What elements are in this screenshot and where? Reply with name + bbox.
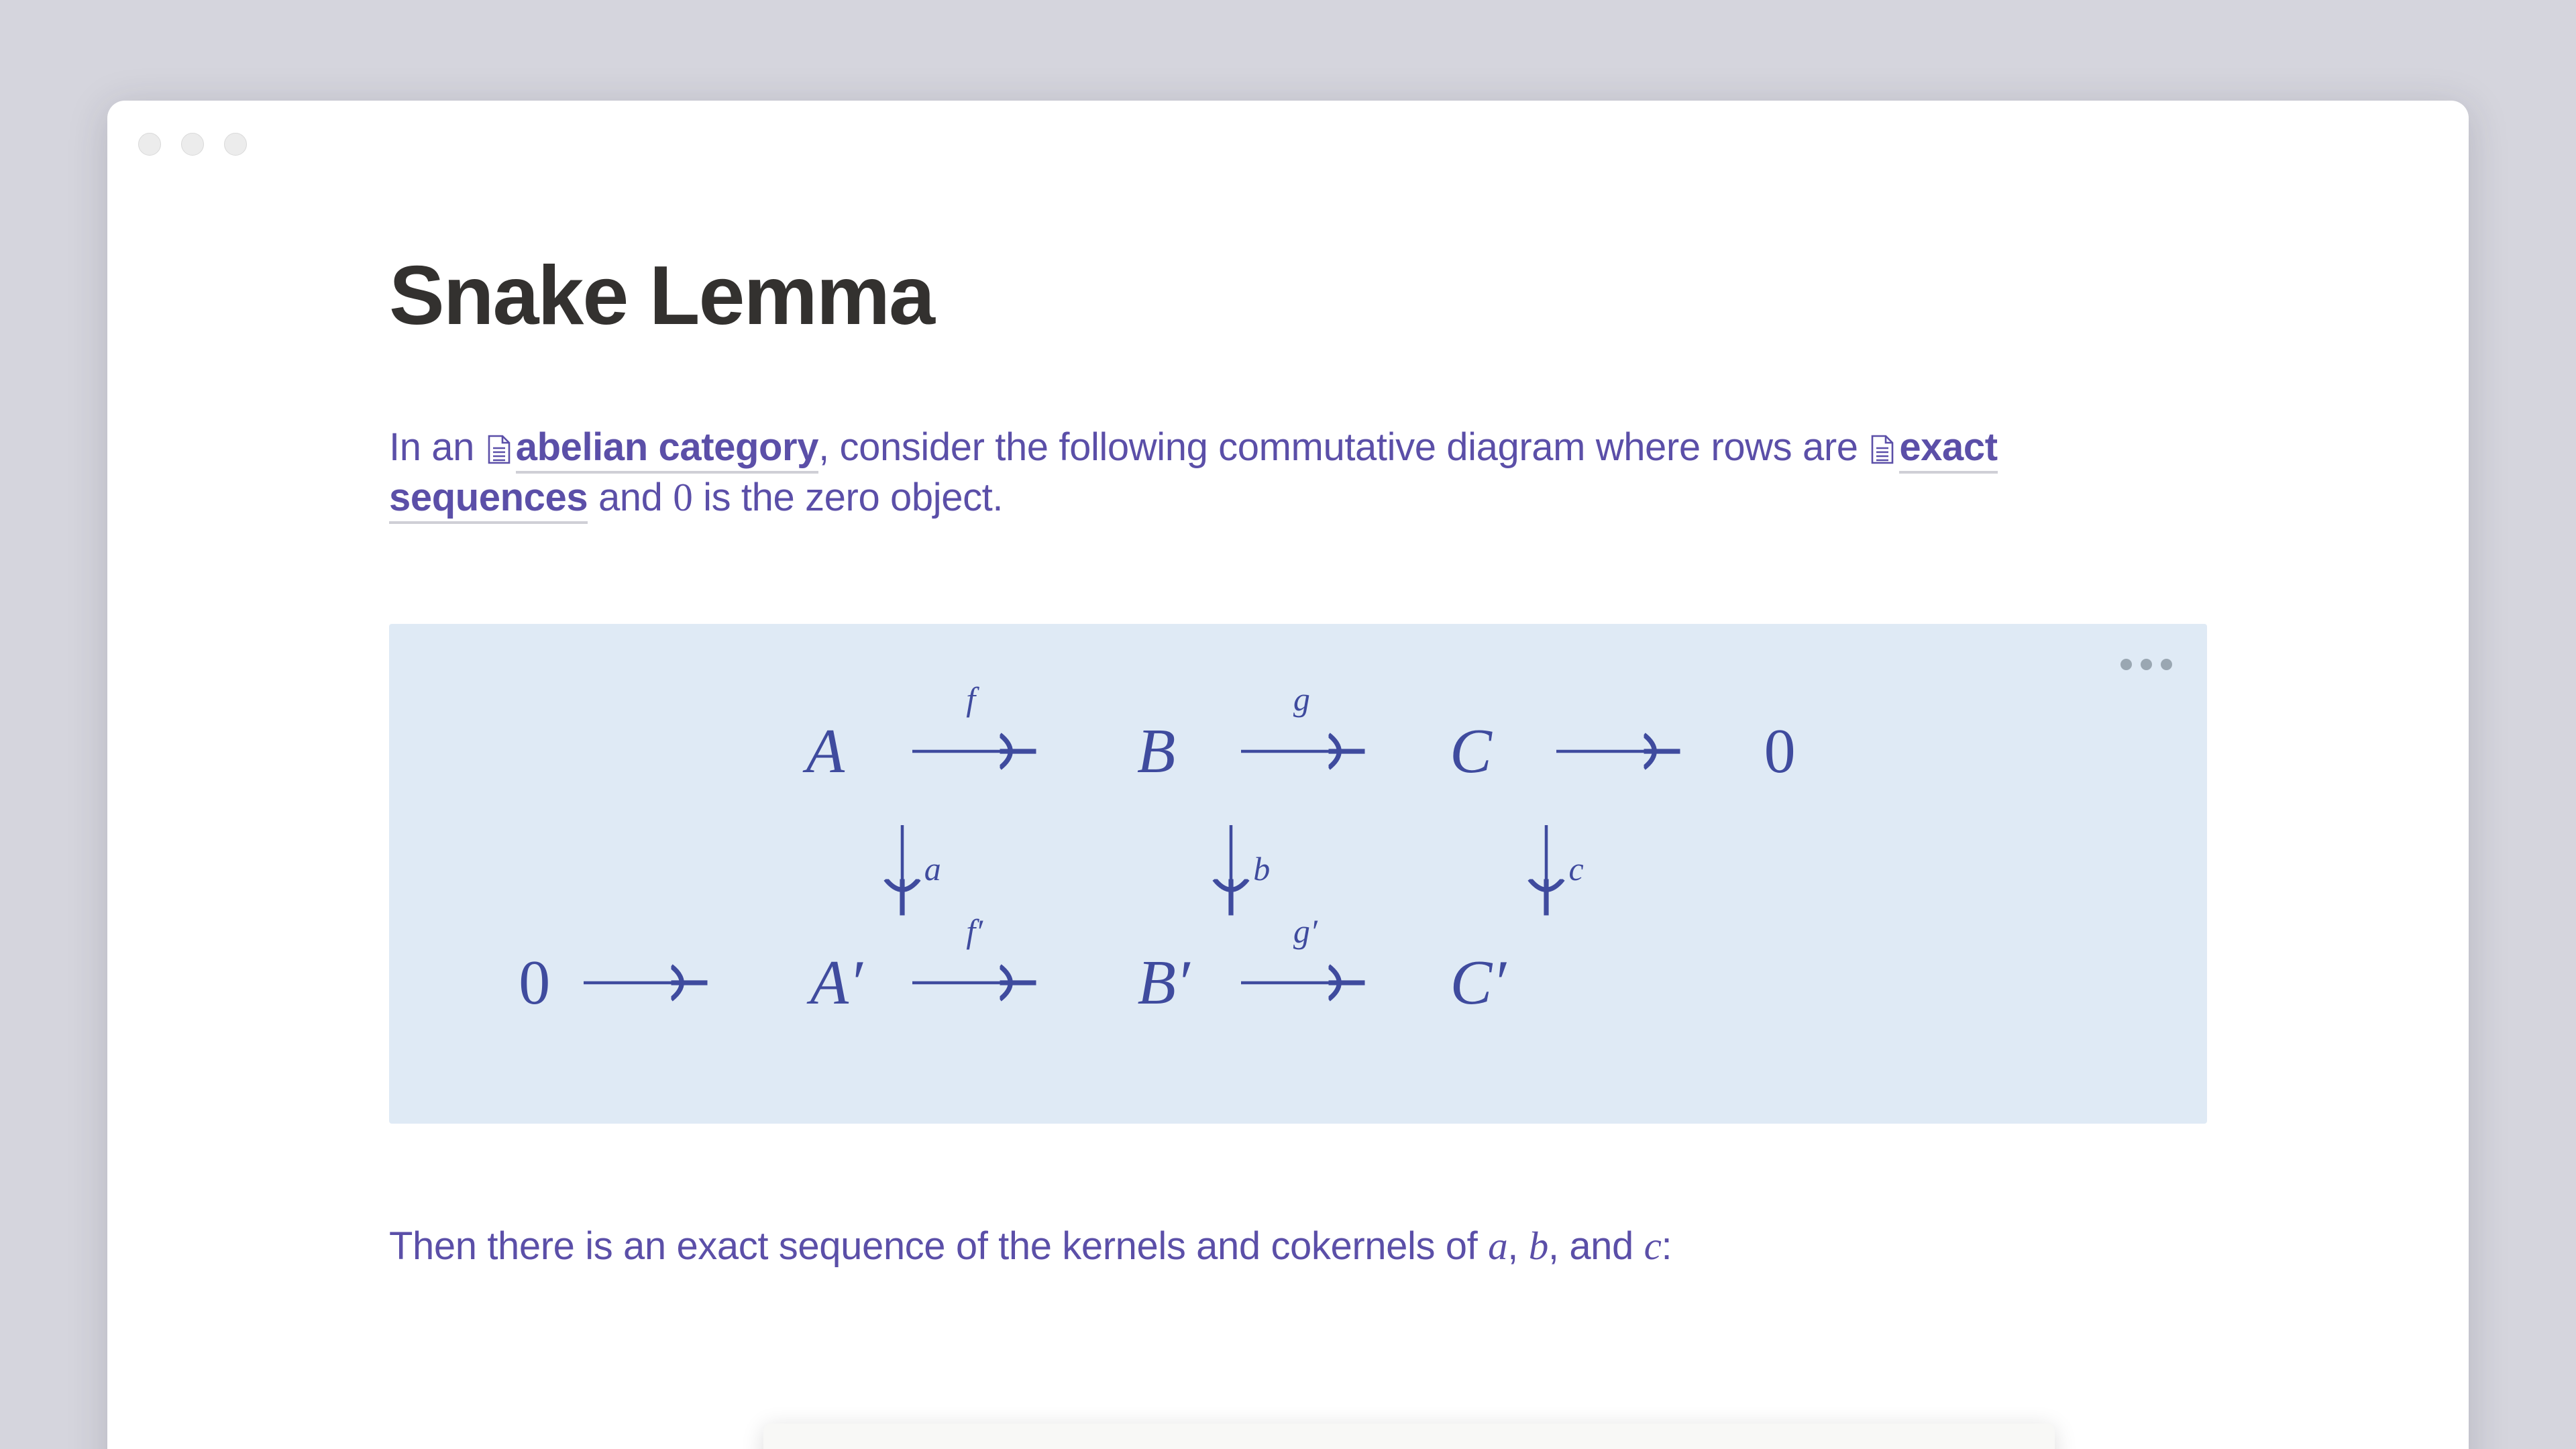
intro-text-segment-3: and — [588, 476, 673, 519]
cd-arrow-label-f: f — [966, 680, 975, 718]
cd-node-C-prime: C′ — [1450, 947, 1506, 1019]
page-icon — [1871, 435, 1894, 464]
window-titlebar — [107, 101, 2469, 181]
cd-arrow-label-b: b — [1253, 849, 1270, 888]
page-title: Snake Lemma — [389, 248, 934, 343]
then-text-segment-1: Then there is an exact sequence of the k… — [389, 1224, 1488, 1268]
cd-node-zero-bottom: 0 — [519, 947, 550, 1019]
cd-node-C: C — [1450, 715, 1492, 788]
link-abelian-category[interactable]: abelian category — [516, 425, 818, 474]
cd-arrow-label-f-prime: f′ — [966, 912, 983, 951]
math-var-c: c — [1644, 1224, 1662, 1268]
then-paragraph: Then there is an exact sequence of the k… — [389, 1221, 2227, 1272]
math-var-b: b — [1529, 1224, 1548, 1268]
cd-arrow-label-a: a — [924, 849, 941, 888]
math-var-a: a — [1488, 1224, 1507, 1268]
cd-diagram: A B C 0 f g a b c 0 A′ B′ C′ f′ g′ — [389, 624, 2207, 1124]
intro-text-segment-4: is the zero object. — [692, 476, 1003, 519]
cd-node-zero-top: 0 — [1764, 715, 1796, 788]
cd-node-B-prime: B′ — [1137, 947, 1189, 1019]
page-icon — [488, 435, 511, 464]
cd-arrow-label-g-prime: g′ — [1293, 912, 1318, 951]
cd-node-B: B — [1137, 715, 1175, 788]
minimize-button[interactable] — [181, 133, 204, 156]
then-comma-2: , and — [1548, 1224, 1644, 1268]
cd-node-A: A — [806, 715, 845, 788]
zero-object-symbol: 0 — [673, 475, 692, 519]
latex-code-editor[interactable]: \begin{CD}@. A @>f>> B @>g>> C @>>> 0 \\… — [763, 1424, 2055, 1449]
app-window: Snake Lemma In an abelian category, cons… — [107, 101, 2469, 1449]
intro-text-segment-1: In an — [389, 425, 485, 469]
window-controls — [138, 133, 247, 156]
cd-node-A-prime: A′ — [810, 947, 863, 1019]
intro-text-segment-2: , consider the following commutative dia… — [818, 425, 1868, 469]
then-comma-1: , — [1507, 1224, 1528, 1268]
maximize-button[interactable] — [224, 133, 247, 156]
commutative-diagram-block[interactable]: A B C 0 f g a b c 0 A′ B′ C′ f′ g′ — [389, 624, 2207, 1124]
close-button[interactable] — [138, 133, 161, 156]
cd-arrow-label-c: c — [1569, 849, 1584, 888]
intro-paragraph: In an abelian category, consider the fol… — [389, 423, 2133, 523]
then-text-end: : — [1661, 1224, 1672, 1268]
cd-arrow-label-g: g — [1293, 680, 1310, 718]
